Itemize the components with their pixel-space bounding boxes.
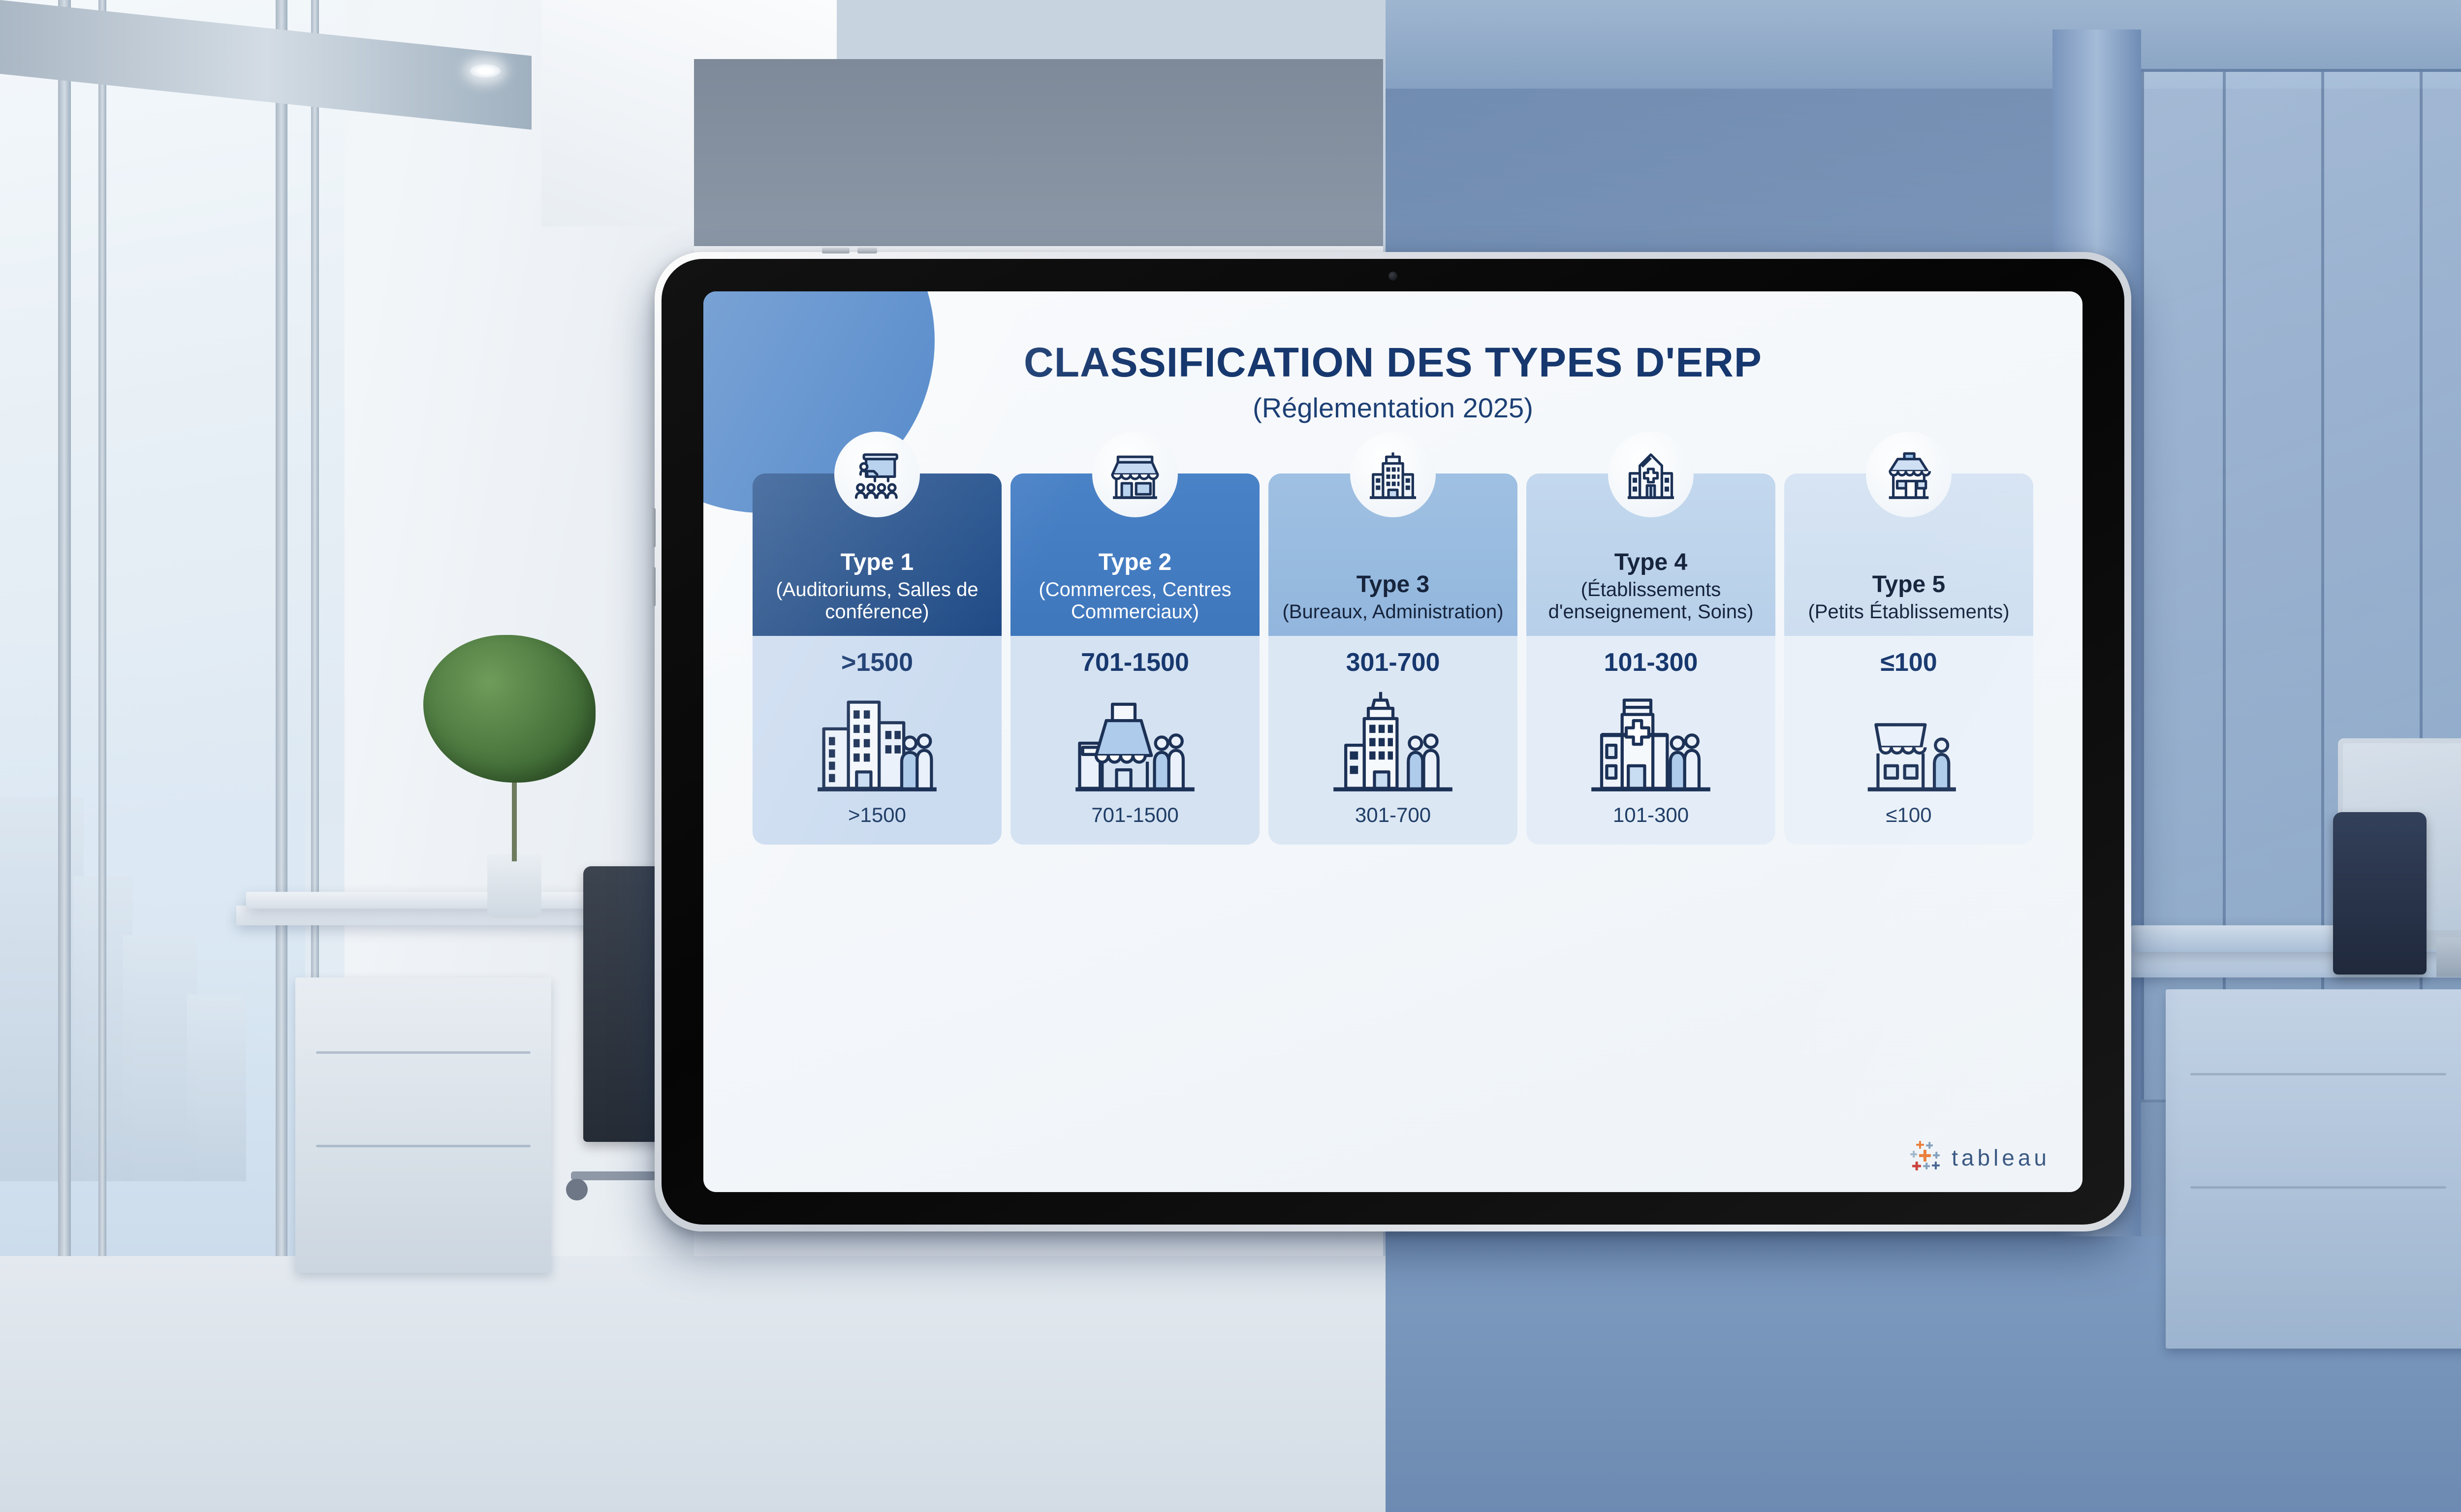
tableau-logo: tableau — [1909, 1140, 2050, 1175]
clinic-building-with-people-icon — [1526, 687, 1775, 800]
erp-card-type-3[interactable]: Type 3 (Bureaux, Administration) 301-700 — [1268, 473, 1517, 845]
erp-card-footer-label: >1500 — [753, 800, 1002, 845]
erp-card-title: Type 5 — [1872, 572, 1946, 597]
erp-card-description: (Auditoriums, Salles de conférence) — [760, 579, 994, 623]
erp-card-capacity: 301-700 — [1268, 636, 1517, 687]
erp-type-cards: Type 1 (Auditoriums, Salles de conférenc… — [753, 473, 2033, 845]
erp-card-description: (Établissements d'enseignement, Soins) — [1534, 579, 1767, 623]
erp-card-type-2[interactable]: Type 2 (Commerces, Centres Commerciaux) … — [1010, 473, 1260, 845]
front-camera — [1388, 272, 1397, 281]
chair-left — [583, 866, 662, 1142]
tableau-mark-icon — [1909, 1140, 1945, 1175]
tablet-side-button-upper[interactable] — [651, 508, 656, 547]
cityscape — [187, 994, 246, 1181]
erp-card-type-5[interactable]: Type 5 (Petits Établissements) ≤100 — [1784, 473, 2033, 845]
tablet-side-button-lower[interactable] — [651, 567, 656, 606]
erp-card-footer-label: ≤100 — [1784, 800, 2033, 845]
tablet-device: CLASSIFICATION DES TYPES D'ERP (Réglemen… — [655, 252, 2131, 1231]
gray-upper-panel — [694, 59, 1383, 246]
cityscape — [123, 935, 197, 1181]
chair-caster — [566, 1179, 588, 1200]
mall-building-with-people-icon — [1010, 687, 1260, 800]
monitor-stand — [2436, 938, 2461, 977]
erp-card-description: (Bureaux, Administration) — [1282, 601, 1503, 623]
erp-card-type-1[interactable]: Type 1 (Auditoriums, Salles de conférenc… — [753, 473, 1002, 845]
tower-office-with-people-icon — [1268, 687, 1517, 800]
erp-card-capacity: ≤100 — [1784, 636, 2033, 687]
page-title: CLASSIFICATION DES TYPES D'ERP — [703, 339, 2082, 386]
floor-left — [0, 1256, 1388, 1512]
storefront-awning-icon — [1092, 432, 1178, 517]
tableau-wordmark: tableau — [1952, 1144, 2050, 1171]
presentation-board-icon — [834, 432, 920, 517]
window-mullion — [276, 0, 287, 1427]
ceiling-downlight — [470, 64, 501, 78]
erp-card-capacity: 701-1500 — [1010, 636, 1260, 687]
cabinet-right — [2166, 989, 2461, 1349]
erp-card-capacity: 101-300 — [1526, 636, 1775, 687]
cityscape — [0, 797, 84, 1181]
cabinet-left — [295, 977, 551, 1273]
erp-card-title: Type 2 — [1099, 550, 1172, 575]
erp-card-description: (Commerces, Centres Commerciaux) — [1018, 579, 1252, 623]
tablet-power-button[interactable] — [822, 248, 850, 253]
erp-card-title: Type 1 — [841, 550, 914, 575]
erp-card-footer-label: 101-300 — [1526, 800, 1775, 845]
erp-card-description: (Petits Établissements) — [1808, 601, 2009, 623]
window-mullion — [98, 0, 106, 1427]
erp-card-footer-label: 301-700 — [1268, 800, 1517, 845]
small-shop-with-person-icon — [1784, 687, 2033, 800]
erp-card-type-4[interactable]: Type 4 (Établissements d'enseignement, S… — [1526, 473, 1775, 845]
small-shop-icon — [1866, 432, 1952, 517]
page-subtitle: (Réglementation 2025) — [703, 392, 2082, 424]
tablet-bezel: CLASSIFICATION DES TYPES D'ERP (Réglemen… — [662, 259, 2124, 1225]
highrise-office-with-people-icon — [753, 687, 1002, 800]
window-mullion — [58, 0, 71, 1427]
tablet-screen[interactable]: CLASSIFICATION DES TYPES D'ERP (Réglemen… — [703, 291, 2082, 1192]
erp-card-title: Type 3 — [1357, 572, 1430, 597]
chair-right-back — [2333, 812, 2427, 975]
erp-card-footer-label: 701-1500 — [1010, 800, 1260, 845]
erp-card-title: Type 4 — [1614, 550, 1688, 575]
erp-card-capacity: >1500 — [753, 636, 1002, 687]
plant-pot — [487, 854, 541, 918]
tablet-volume-button[interactable] — [857, 248, 877, 253]
school-hospital-icon — [1608, 432, 1694, 517]
office-building-icon — [1350, 432, 1436, 517]
